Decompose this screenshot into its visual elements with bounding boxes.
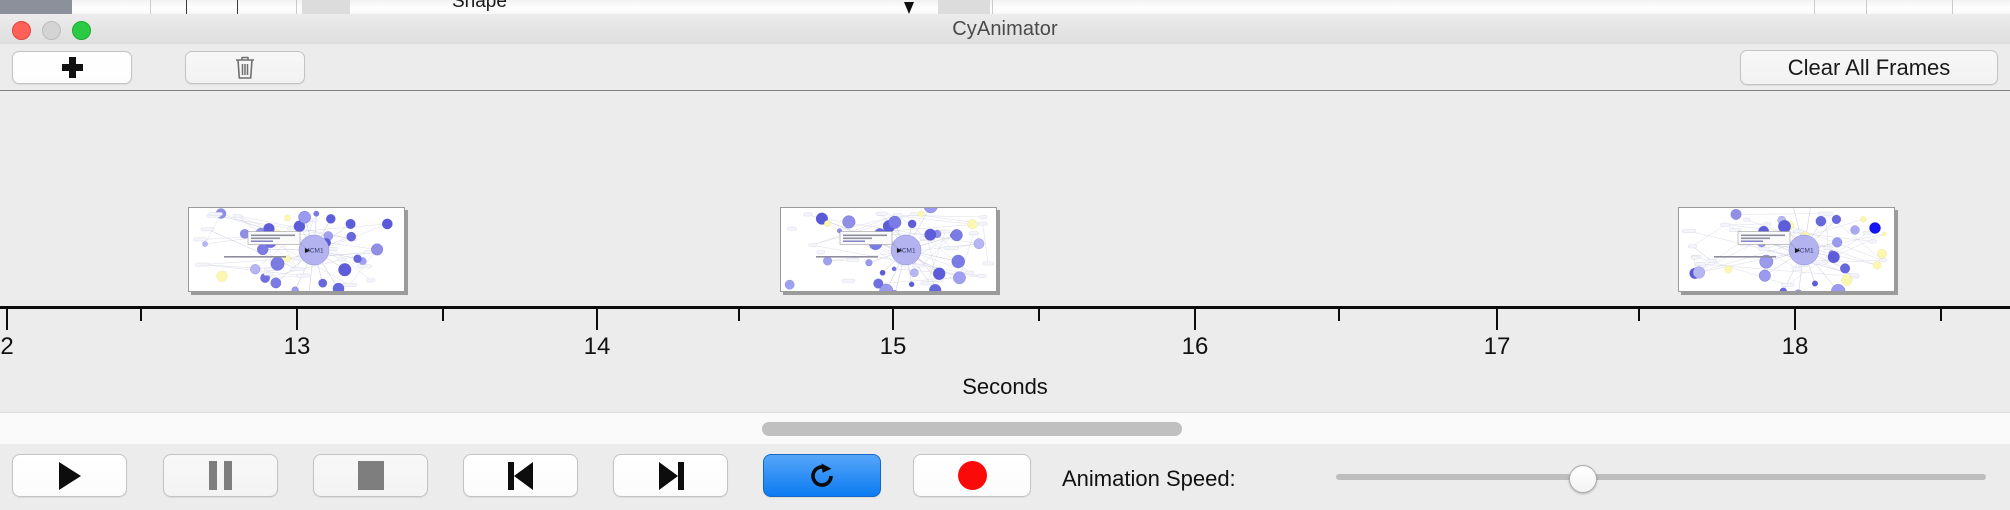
axis-tick-label: 14 [584, 333, 611, 361]
delete-frame-button[interactable] [185, 51, 305, 84]
pause-button[interactable] [163, 454, 278, 497]
axis-tick-minor [1038, 309, 1040, 321]
axis-tick-label: 17 [1484, 333, 1511, 361]
skip-to-start-button[interactable] [463, 454, 578, 497]
axis-tick-label: 16 [1182, 333, 1209, 361]
stop-icon [358, 461, 384, 490]
timeline-scrollbar[interactable] [0, 412, 2010, 446]
bg-divider [1866, 0, 1867, 14]
keyframe-thumbnail-1[interactable]: MCM1 [188, 207, 405, 292]
stop-button[interactable] [313, 454, 428, 497]
axis-tick-minor [140, 309, 142, 321]
axis-tick-label: 18 [1782, 333, 1809, 361]
bg-divider [296, 0, 297, 14]
animation-speed-label: Animation Speed: [1062, 466, 1236, 492]
timeline-axis: 2131415161718 Seconds [0, 306, 2010, 413]
keyframe-thumbnail-3[interactable]: MCM1 [1678, 207, 1895, 292]
window-title: CyAnimator [0, 14, 2010, 44]
loop-icon [806, 460, 838, 492]
timeline-frame-canvas[interactable]: MCM1MCM1MCM1 [0, 91, 2010, 306]
toolbar: Clear All Frames [0, 44, 2010, 91]
bg-divider [150, 0, 151, 14]
axis-tick-major [1794, 309, 1796, 330]
background-window-sidebar [0, 0, 72, 14]
clear-all-frames-button[interactable]: Clear All Frames [1740, 50, 1998, 85]
background-window-body [72, 0, 2010, 14]
loop-button[interactable] [763, 454, 881, 497]
bg-divider [237, 0, 238, 14]
skip-forward-icon [658, 462, 684, 490]
axis-tick-label: 2 [0, 333, 13, 361]
playback-control-bar: Animation Speed: [0, 444, 2010, 510]
axis-tick-major [596, 309, 598, 330]
scrollbar-thumb[interactable] [762, 422, 1182, 436]
axis-title: Seconds [0, 374, 2010, 400]
animation-speed-slider-thumb[interactable] [1569, 465, 1597, 493]
trash-icon [234, 55, 256, 80]
plus-icon [62, 57, 83, 78]
skip-to-end-button[interactable] [613, 454, 728, 497]
bg-cell [938, 0, 990, 14]
bg-shape-label: Shape [452, 0, 507, 13]
clear-all-frames-label: Clear All Frames [1788, 55, 1951, 81]
axis-tick-label: 13 [284, 333, 311, 361]
timeline-panel: MCM1MCM1MCM1 2131415161718 Seconds [0, 90, 2010, 412]
skip-back-icon [508, 462, 534, 490]
axis-baseline [0, 306, 2010, 309]
play-button[interactable] [12, 454, 127, 497]
axis-tick-major [892, 309, 894, 330]
add-frame-button[interactable] [12, 51, 132, 84]
axis-tick-minor [1638, 309, 1640, 321]
axis-tick-major [1496, 309, 1498, 330]
axis-tick-major [6, 309, 8, 330]
animation-speed-slider[interactable] [1336, 474, 1986, 480]
record-icon [958, 461, 987, 490]
bg-divider [1952, 0, 1953, 14]
background-window-strip: Shape [0, 0, 2010, 14]
cyanimator-window: Shape CyAnimator Clear All Frames [0, 0, 2010, 510]
keyframe-thumbnail-2[interactable]: MCM1 [780, 207, 997, 292]
pause-icon [209, 461, 232, 490]
axis-tick-major [1194, 309, 1196, 330]
bg-cell [302, 0, 350, 14]
axis-tick-minor [1940, 309, 1942, 321]
bg-divider [992, 0, 993, 14]
bg-divider [1814, 0, 1815, 14]
axis-tick-label: 15 [880, 333, 907, 361]
axis-tick-minor [1338, 309, 1340, 321]
title-bar[interactable]: CyAnimator [0, 14, 2010, 45]
axis-tick-minor [442, 309, 444, 321]
play-icon [59, 462, 81, 490]
bg-divider [186, 0, 187, 14]
axis-tick-minor [738, 309, 740, 321]
record-button[interactable] [913, 454, 1031, 497]
axis-tick-major [296, 309, 298, 330]
